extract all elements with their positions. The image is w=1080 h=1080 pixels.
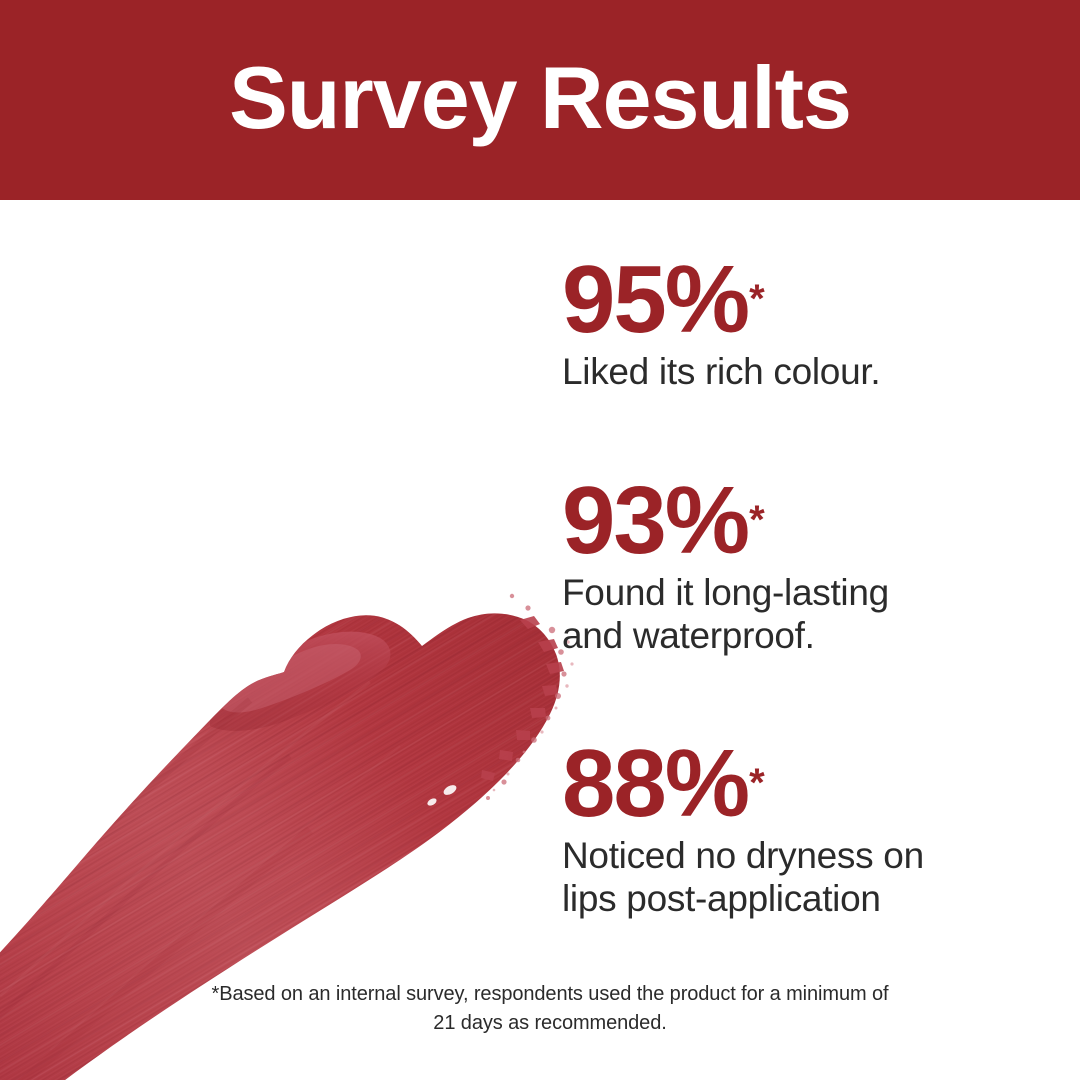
stat-item: 88%* Noticed no dryness on lips post-app… (562, 738, 924, 921)
footnote-text: *Based on an internal survey, respondent… (150, 980, 950, 1038)
footnote-marker-icon: * (749, 500, 765, 540)
survey-results-poster: Survey Results (0, 0, 1080, 1080)
stat-value: 95% (562, 254, 748, 345)
header-band: Survey Results (0, 0, 1080, 200)
footnote-marker-icon: * (749, 279, 765, 319)
stat-value: 88% (562, 738, 748, 829)
stat-value-row: 88%* (562, 738, 924, 829)
lipstick-swatch-icon (0, 290, 580, 1080)
stat-description: Found it long-lasting and waterproof. (562, 572, 889, 658)
stat-item: 93%* Found it long-lasting and waterproo… (562, 475, 889, 658)
footnote-marker-icon: * (749, 763, 765, 803)
stat-description: Liked its rich colour. (562, 351, 880, 394)
stat-value: 93% (562, 475, 748, 566)
stat-value-row: 95%* (562, 254, 880, 345)
stat-description: Noticed no dryness on lips post-applicat… (562, 835, 924, 921)
stat-value-row: 93%* (562, 475, 889, 566)
stat-item: 95%* Liked its rich colour. (562, 254, 880, 394)
page-title: Survey Results (229, 54, 851, 142)
